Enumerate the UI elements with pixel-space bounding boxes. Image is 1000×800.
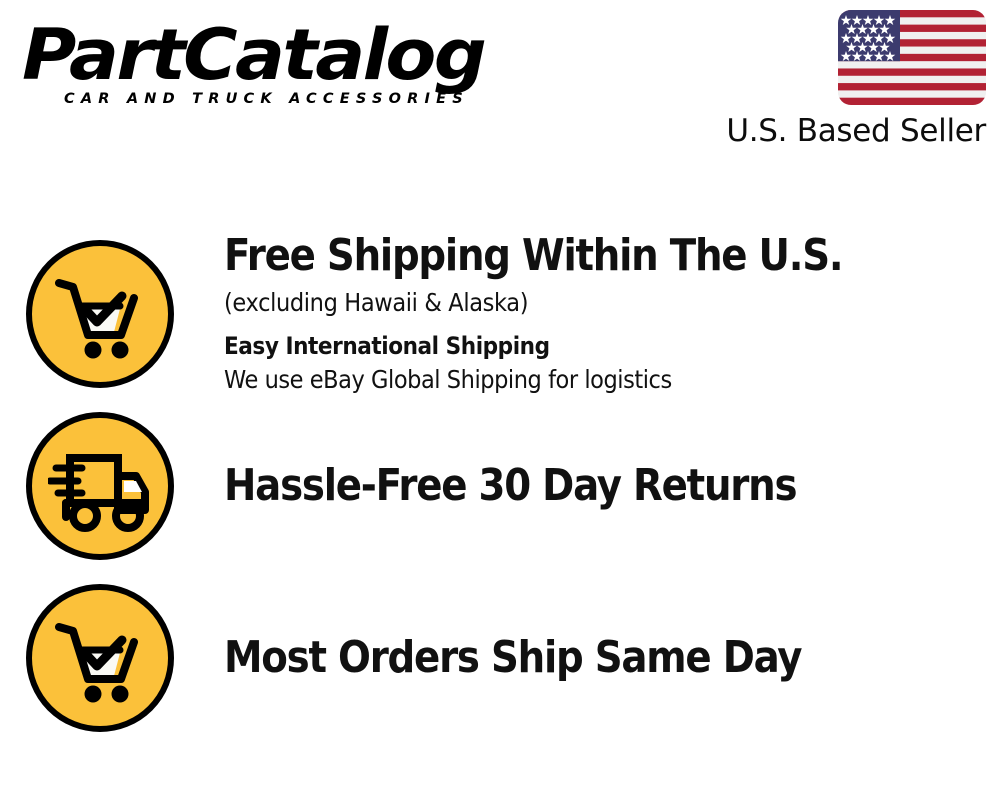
feature-subhead-note: We use eBay Global Shipping for logistic… <box>224 364 922 395</box>
shopping-cart-check-icon <box>26 240 174 388</box>
feature-text-cell: Free Shipping Within The U.S. (excluding… <box>200 233 1000 396</box>
feature-headline: Hassle-Free 30 Day Returns <box>224 463 907 510</box>
feature-text-cell: Most Orders Ship Same Day <box>200 635 1000 682</box>
us-flag-icon <box>838 10 986 105</box>
feature-icon-cell <box>0 412 200 560</box>
feature-headline: Most Orders Ship Same Day <box>224 635 907 682</box>
feature-row-same-day-ship: Most Orders Ship Same Day <box>0 572 1000 744</box>
us-based-seller-label: U.S. Based Seller <box>706 113 986 149</box>
feature-subhead: Easy International Shipping <box>224 332 922 361</box>
feature-icon-cell <box>0 584 200 732</box>
feature-headline: Free Shipping Within The U.S. <box>224 233 907 280</box>
feature-text-cell: Hassle-Free 30 Day Returns <box>200 463 1000 510</box>
banner-header: PartCatalog CAR AND TRUCK ACCESSORIES <box>0 0 1000 180</box>
brand-logo: PartCatalog CAR AND TRUCK ACCESSORIES <box>22 22 492 107</box>
feature-icon-cell <box>0 240 200 388</box>
feature-row-returns: Hassle-Free 30 Day Returns <box>0 400 1000 572</box>
shopping-cart-check-icon <box>26 584 174 732</box>
feature-list: Free Shipping Within The U.S. (excluding… <box>0 228 1000 744</box>
brand-name: PartCatalog <box>22 22 520 89</box>
us-based-seller-badge: U.S. Based Seller <box>706 10 986 149</box>
delivery-truck-icon <box>26 412 174 560</box>
feature-subline: (excluding Hawaii & Alaska) <box>224 287 922 318</box>
feature-row-free-shipping: Free Shipping Within The U.S. (excluding… <box>0 228 1000 400</box>
